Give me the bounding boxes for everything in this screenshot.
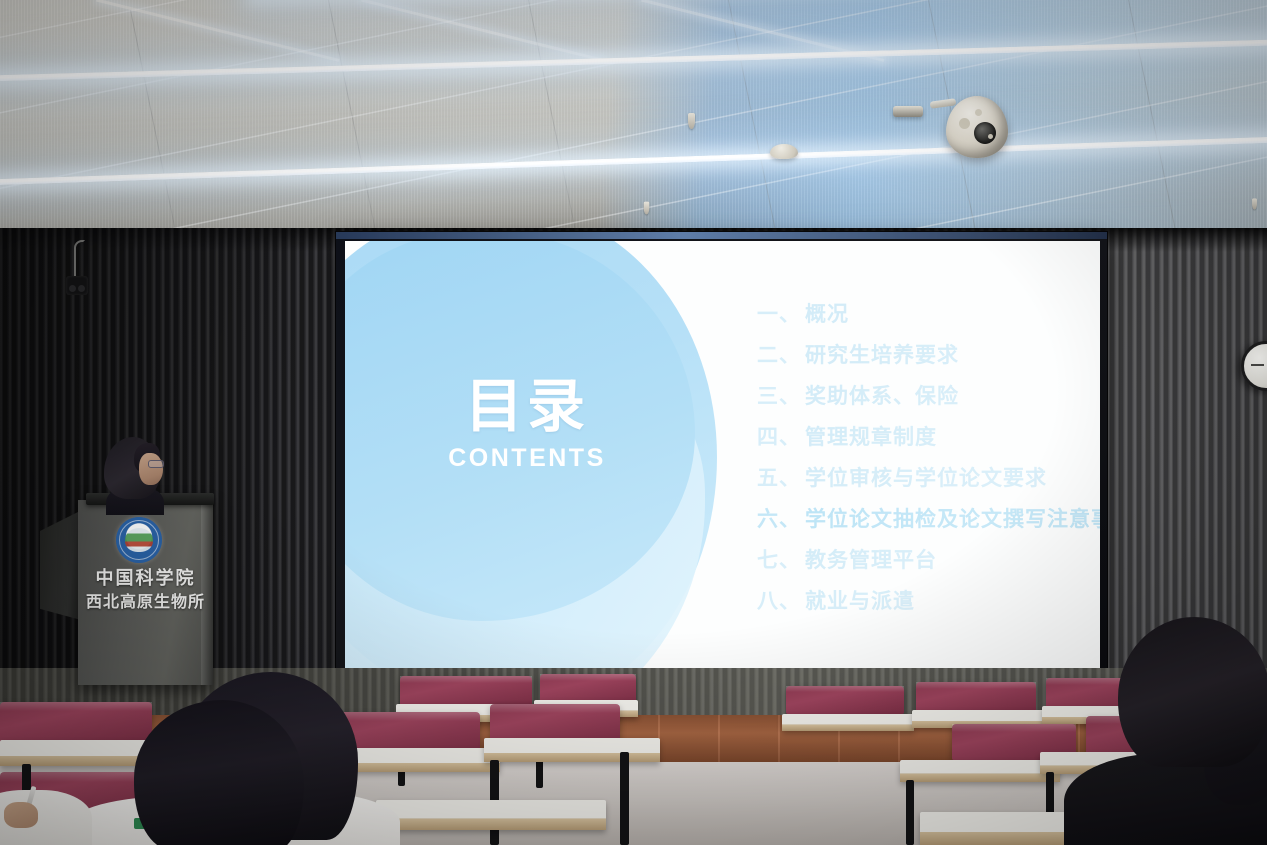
audience-member-right xyxy=(1072,617,1267,845)
presentation-slide: 目录 CONTENTS 一、 概况 二、 研究生培养要求 三、 奖助体系、保险 … xyxy=(345,241,1100,668)
chair xyxy=(786,686,904,714)
agenda-item-number: 二、 xyxy=(757,339,805,369)
chair xyxy=(400,676,532,706)
agenda-item-number: 三、 xyxy=(757,380,805,410)
desk-leg xyxy=(620,752,629,845)
agenda-item-5: 五、 学位审核与学位论文要求 xyxy=(757,462,1100,503)
cas-emblem-icon xyxy=(116,517,162,563)
podium-org-line-1: 中国科学院 xyxy=(78,564,213,590)
lecture-hall-photo: 目录 CONTENTS 一、 概况 二、 研究生培养要求 三、 奖助体系、保险 … xyxy=(0,0,1267,845)
presenter-at-podium xyxy=(104,437,166,507)
desk-edge xyxy=(376,819,606,830)
agenda-item-number: 四、 xyxy=(757,421,805,451)
desk-edge xyxy=(484,753,660,762)
smoke-detector-icon xyxy=(770,144,798,159)
desk xyxy=(376,800,606,830)
agenda-item-2: 二、 研究生培养要求 xyxy=(757,339,1100,380)
agenda-item-7: 七、 教务管理平台 xyxy=(757,544,1100,585)
chair xyxy=(916,682,1036,712)
slide-heading-group: 目录 CONTENTS xyxy=(417,377,637,473)
slide-agenda-list: 一、 概况 二、 研究生培养要求 三、 奖助体系、保险 四、 管理规章制度 五、 xyxy=(757,298,1100,626)
audience-hair xyxy=(1118,617,1267,767)
agenda-item-1: 一、 概况 xyxy=(757,298,1100,339)
agenda-item-label: 奖助体系、保险 xyxy=(805,380,959,410)
agenda-item-4: 四、 管理规章制度 xyxy=(757,421,1100,462)
agenda-item-label: 管理规章制度 xyxy=(805,421,937,451)
agenda-item-number: 八、 xyxy=(757,585,805,615)
desk-leg xyxy=(906,780,914,845)
desk xyxy=(900,760,1060,782)
agenda-item-3: 三、 奖助体系、保险 xyxy=(757,380,1100,421)
agenda-item-label: 教务管理平台 xyxy=(805,544,937,574)
agenda-item-label: 研究生培养要求 xyxy=(805,339,959,369)
presenter-face xyxy=(139,453,163,485)
ceiling-panel-texture xyxy=(0,0,1267,232)
desk-edge xyxy=(782,725,914,731)
agenda-item-number: 五、 xyxy=(757,462,805,492)
agenda-item-label: 就业与派遣 xyxy=(805,585,915,615)
wifi-access-point-icon xyxy=(893,106,923,117)
agenda-item-number: 六、 xyxy=(757,503,805,533)
sprinkler-head-icon xyxy=(1252,198,1257,209)
podium: 中国科学院 西北高原生物所 xyxy=(78,500,213,685)
presenter-glasses xyxy=(148,460,164,468)
wall-speaker-icon xyxy=(66,276,88,295)
desk xyxy=(484,738,660,762)
dome-security-camera-icon xyxy=(946,96,1008,158)
speaker-cable xyxy=(74,240,85,278)
agenda-item-8: 八、 就业与派遣 xyxy=(757,585,1100,626)
agenda-item-number: 一、 xyxy=(757,298,805,328)
audience-member-far-left xyxy=(0,772,96,845)
agenda-item-label: 学位审核与学位论文要求 xyxy=(805,462,1047,492)
sprinkler-head-icon xyxy=(644,202,650,215)
agenda-item-label: 概况 xyxy=(805,298,849,328)
slide-title: 目录 xyxy=(417,377,637,438)
agenda-item-number: 七、 xyxy=(757,544,805,574)
slide-subtitle: CONTENTS xyxy=(417,444,637,473)
audience-hand xyxy=(4,802,38,828)
sprinkler-head-icon xyxy=(688,113,695,129)
podium-org-line-2: 西北高原生物所 xyxy=(78,588,213,612)
desk xyxy=(782,714,914,731)
ceiling xyxy=(0,0,1267,232)
agenda-item-6: 六、 学位论文抽检及论文撰写注意事项 xyxy=(757,503,1100,544)
desk-edge xyxy=(900,774,1060,782)
agenda-item-label: 学位论文抽检及论文撰写注意事项 xyxy=(805,503,1100,533)
projection-screen: 目录 CONTENTS 一、 概况 二、 研究生培养要求 三、 奖助体系、保险 … xyxy=(336,232,1107,676)
